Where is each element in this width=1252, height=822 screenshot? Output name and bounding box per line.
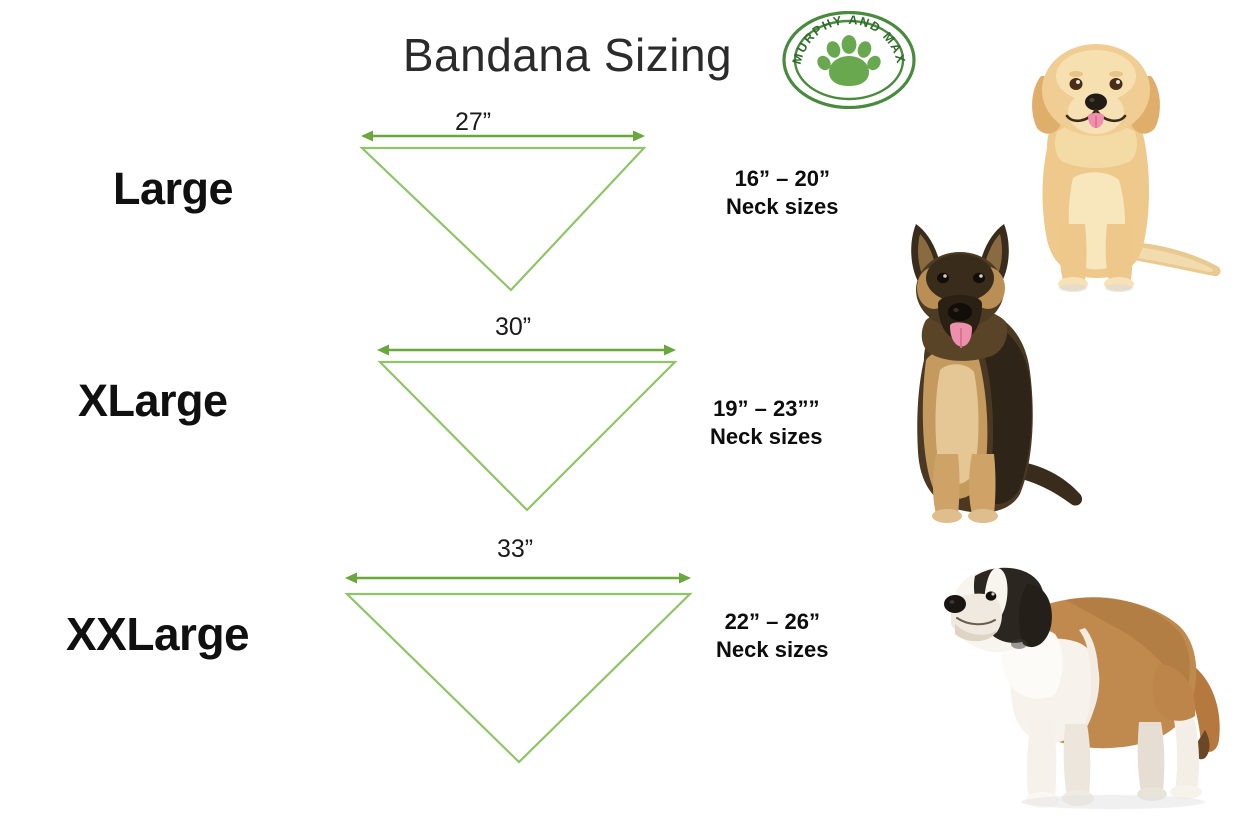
dog-photo-german-shepherd [840, 210, 1102, 528]
width-label-xlarge: 30” [495, 313, 531, 342]
width-label-xxlarge: 33” [497, 535, 533, 564]
size-label-large: Large [113, 163, 233, 215]
triangle-outline-xlarge [380, 362, 675, 510]
neck-range-xlarge: 19” – 23”” [710, 395, 823, 423]
size-label-xlarge: XLarge [78, 375, 228, 427]
neck-caption-large: Neck sizes [726, 193, 839, 221]
neck-size-block-large: 16” – 20” Neck sizes [726, 165, 839, 221]
bandana-triangle-xlarge [375, 340, 685, 520]
triangle-outline-large [362, 148, 644, 290]
neck-caption-xlarge: Neck sizes [710, 423, 823, 451]
dimension-arrow-xxlarge [345, 573, 691, 584]
neck-range-xxlarge: 22” – 26” [716, 608, 829, 636]
triangle-outline-xxlarge [347, 594, 690, 762]
paw-print-icon [815, 35, 884, 86]
dog-photo-saint-bernard [935, 524, 1241, 810]
neck-size-block-xxlarge: 22” – 26” Neck sizes [716, 608, 829, 664]
dimension-arrow-xlarge [377, 345, 676, 356]
width-label-large: 27” [455, 108, 491, 137]
neck-size-block-xlarge: 19” – 23”” Neck sizes [710, 395, 823, 451]
page-title: Bandana Sizing [0, 28, 1135, 82]
neck-caption-xxlarge: Neck sizes [716, 636, 829, 664]
dimension-arrow-large [361, 131, 645, 142]
bandana-triangle-xxlarge [342, 568, 698, 768]
bandana-triangle-large [360, 126, 660, 296]
bandana-sizing-chart: Bandana Sizing MURPHY AND MAX [0, 0, 1252, 822]
size-label-xxlarge: XXLarge [66, 607, 249, 661]
brand-logo: MURPHY AND MAX [782, 11, 916, 109]
neck-range-large: 16” – 20” [726, 165, 839, 193]
